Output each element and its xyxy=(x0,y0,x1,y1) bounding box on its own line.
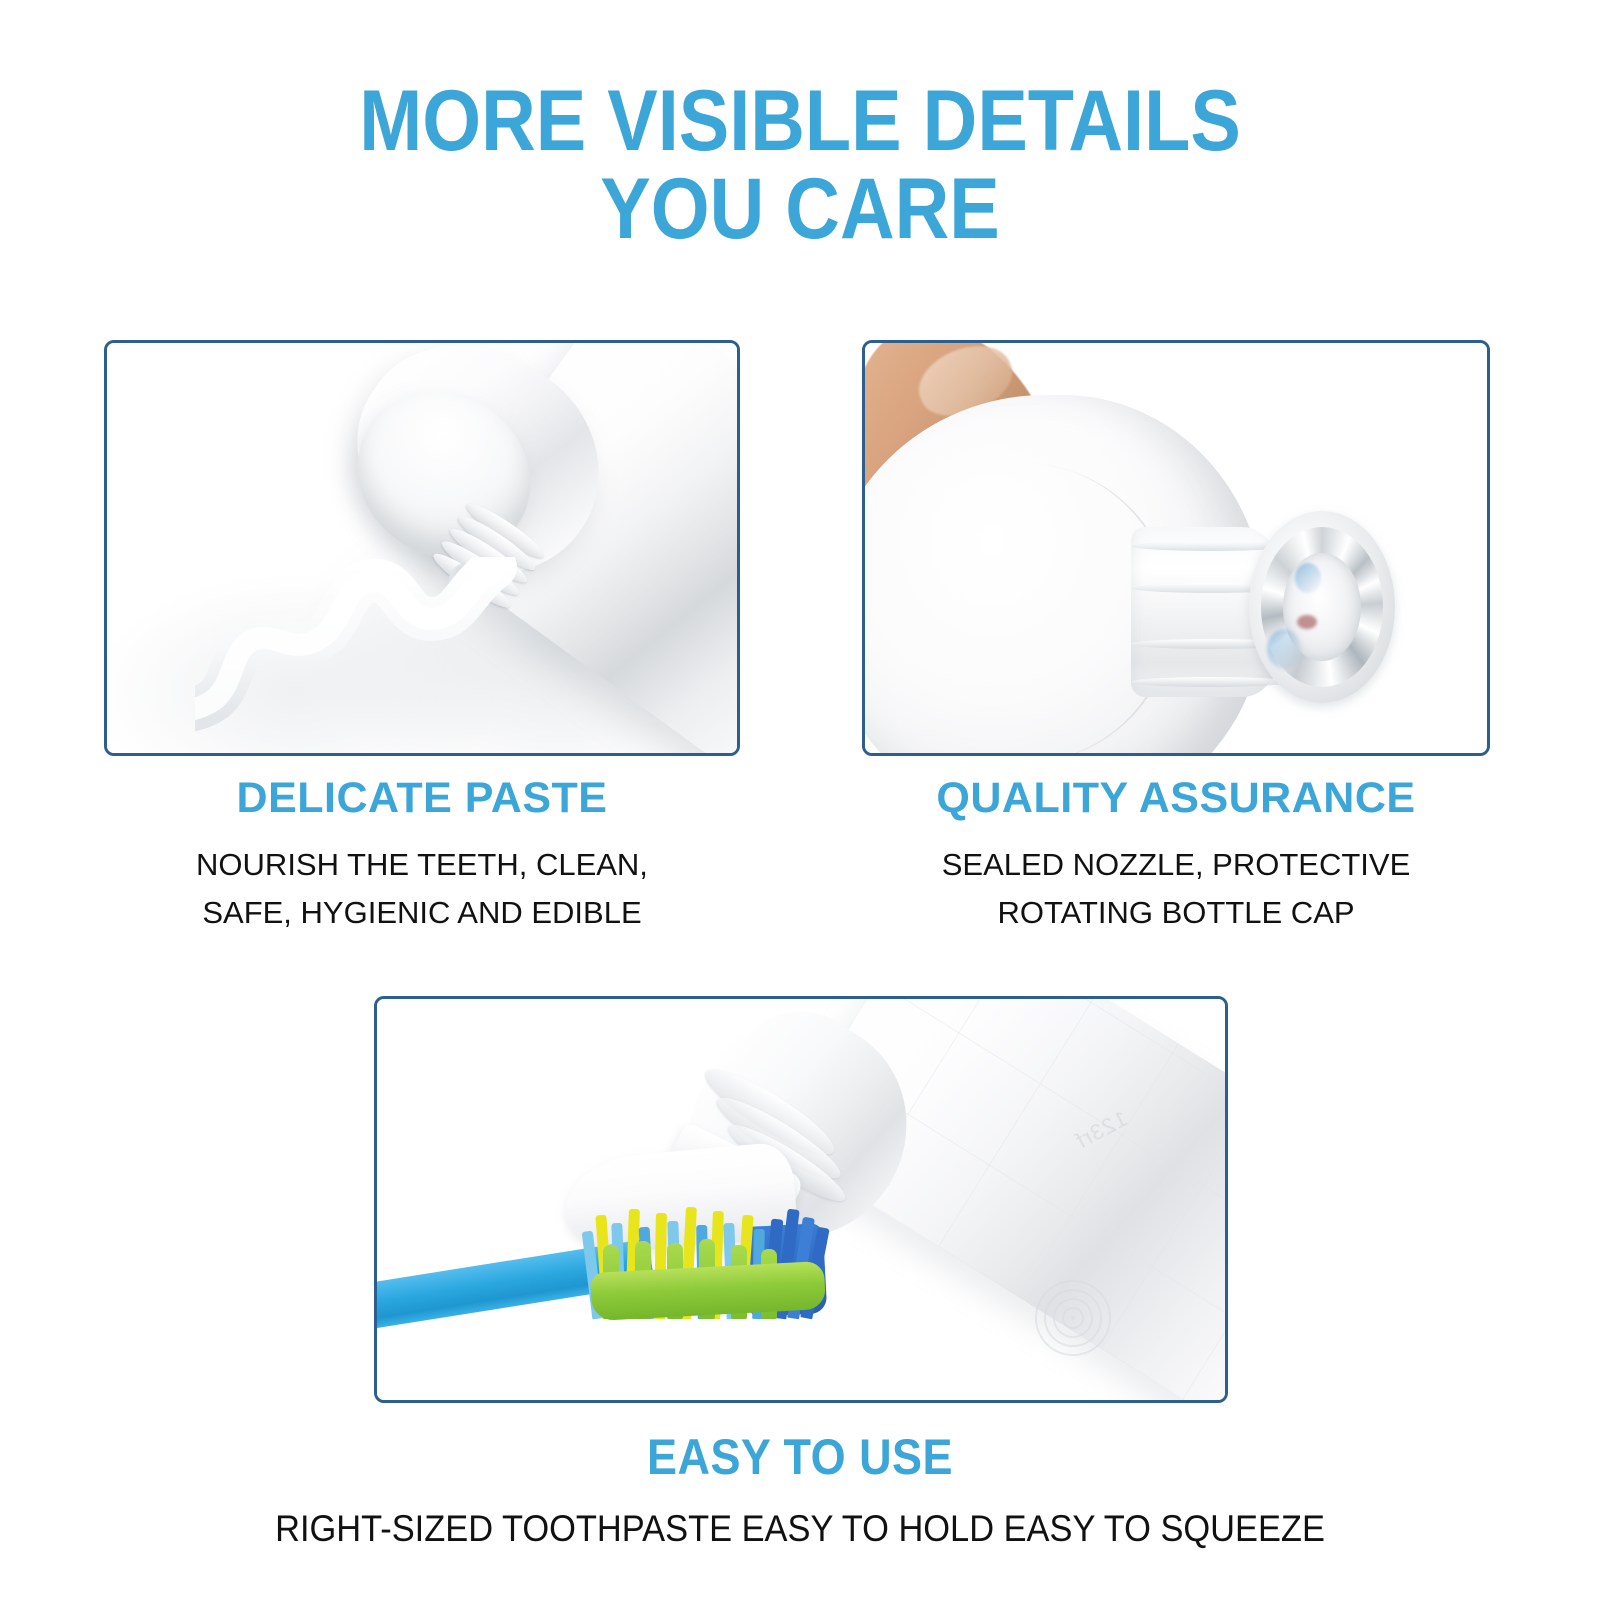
caption-body-line: SEALED NOZZLE, PROTECTIVE xyxy=(862,841,1490,889)
caption-body: SEALED NOZZLE, PROTECTIVE ROTATING BOTTL… xyxy=(862,841,1490,937)
feature-card-easy-to-use: 123rf xyxy=(374,996,1228,1403)
cap-highlight xyxy=(1297,615,1317,629)
caption-title: QUALITY ASSURANCE xyxy=(862,774,1490,823)
cap-highlight xyxy=(1267,629,1301,669)
sealed-cap-photo xyxy=(865,343,1487,753)
caption-body-line: NOURISH THE TEETH, CLEAN, xyxy=(104,841,740,889)
rotating-cap-shape xyxy=(1249,511,1395,703)
caption-quality-assurance: QUALITY ASSURANCE SEALED NOZZLE, PROTECT… xyxy=(862,774,1490,937)
caption-body-line: ROTATING BOTTLE CAP xyxy=(862,889,1490,937)
page-title-line-2: YOU CARE xyxy=(96,166,1504,254)
caption-easy-to-use: EASY TO USE RIGHT-SIZED TOOTHPASTE EASY … xyxy=(0,1428,1600,1557)
caption-body: RIGHT-SIZED TOOTHPASTE EASY TO HOLD EASY… xyxy=(56,1500,1544,1557)
caption-body-line: RIGHT-SIZED TOOTHPASTE EASY TO HOLD EASY… xyxy=(56,1500,1544,1557)
caption-body: NOURISH THE TEETH, CLEAN, SAFE, HYGIENIC… xyxy=(104,841,740,937)
cap-highlight xyxy=(1295,563,1321,593)
paste-squeeze-photo xyxy=(107,343,737,753)
caption-title: DELICATE PASTE xyxy=(104,774,740,823)
brush-squeeze-photo: 123rf xyxy=(377,999,1225,1400)
page-title-line-1: MORE VISIBLE DETAILS xyxy=(96,78,1504,166)
caption-body-line: SAFE, HYGIENIC AND EDIBLE xyxy=(104,889,740,937)
watermark-spiral xyxy=(1031,1276,1115,1360)
feature-card-delicate-paste xyxy=(104,340,740,756)
caption-title: EASY TO USE xyxy=(80,1428,1520,1486)
page-title: MORE VISIBLE DETAILS YOU CARE xyxy=(96,78,1504,253)
paste-ribbon-shape xyxy=(195,557,525,753)
caption-delicate-paste: DELICATE PASTE NOURISH THE TEETH, CLEAN,… xyxy=(104,774,740,937)
feature-card-quality-assurance xyxy=(862,340,1490,756)
